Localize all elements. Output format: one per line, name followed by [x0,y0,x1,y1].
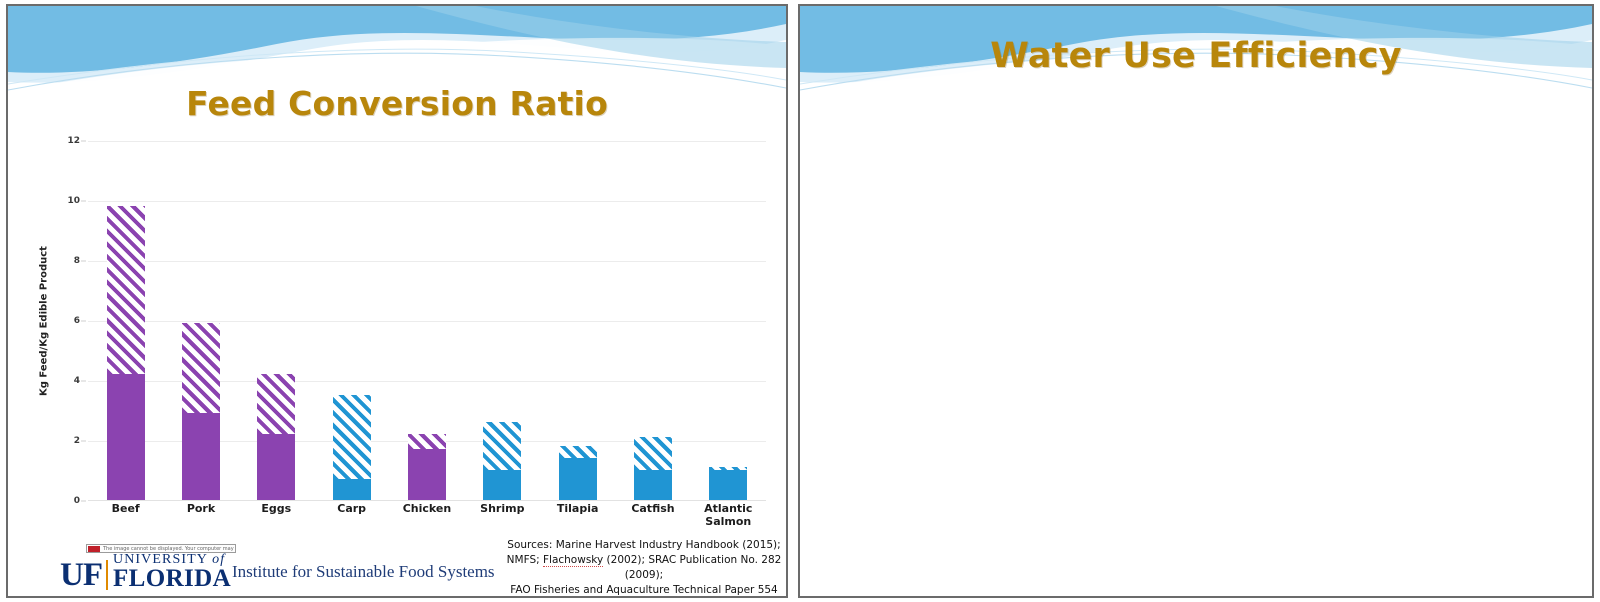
y-tick-mark [81,141,86,142]
x-tick-label: Eggs [239,503,314,528]
bar-eggs[interactable] [257,374,295,500]
uf-divider-left [106,560,108,590]
bar-slot [88,141,163,500]
bar-segment-solid [408,449,446,500]
y-tick-mark [81,501,86,502]
bar-atlantic-salmon[interactable] [709,467,747,500]
broken-image-icon-left: The image cannot be displayed. Your comp… [86,544,236,553]
sources-note-left: Sources: Marine Harvest Industry Handboo… [494,538,788,598]
y-tick-label: 10 [67,196,80,206]
bar-slot [389,141,464,500]
bar-segment-solid [559,458,597,500]
bar-segment-patterned [483,422,521,470]
bar-beef[interactable] [107,206,145,500]
y-tick-label: 4 [74,376,80,386]
x-tick-label: AtlanticSalmon [691,503,766,528]
slide-water-use-efficiency[interactable]: Water Use Efficiency 1000 L/kg edible pr… [798,4,1594,598]
bar-pork[interactable] [182,323,220,500]
bar-segment-patterned [333,395,371,479]
bar-slot [314,141,389,500]
sources-line: NMFS; Flachowsky (2002); SRAC Publicatio… [494,553,788,583]
bar-slot [163,141,238,500]
slide-pair-canvas: Feed Conversion Ratio Kg Feed/Kg Edible … [0,0,1600,602]
bar-shrimp[interactable] [483,422,521,500]
institute-label-left: Institute for Sustainable Food Systems [232,562,495,582]
plot-area-left [88,141,766,501]
y-tick-label: 0 [74,496,80,506]
y-tick-mark [81,381,86,382]
bar-segment-patterned [257,374,295,434]
x-tick-label: Catfish [615,503,690,528]
x-tick-label: Shrimp [465,503,540,528]
y-tick-label: 8 [74,256,80,266]
chart-feed-conversion-ratio: Kg Feed/Kg Edible Product 024681012 Beef… [36,141,766,501]
y-tick-label: 12 [67,136,80,146]
bar-chicken[interactable] [408,434,446,500]
y-axis-ticks-left: 024681012 [52,141,86,501]
y-tick-label: 2 [74,436,80,446]
slide-feed-conversion-ratio[interactable]: Feed Conversion Ratio Kg Feed/Kg Edible … [6,4,788,598]
bar-segment-solid [634,470,672,500]
bar-segment-patterned [559,446,597,458]
bar-segment-solid [333,479,371,500]
uf-monogram-left: UF [60,561,102,591]
sources-line: Sources: Marine Harvest Industry Handboo… [494,538,788,553]
uf-logo-left: The image cannot be displayed. Your comp… [60,544,236,591]
wave-decoration-left [8,6,786,92]
page-title-left: Feed Conversion Ratio [8,84,786,123]
x-tick-label: Beef [88,503,163,528]
y-tick-mark [81,261,86,262]
x-axis-labels-left: BeefPorkEggsCarpChickenShrimpTilapiaCatf… [88,503,766,528]
bar-segment-patterned [408,434,446,449]
x-tick-label: Tilapia [540,503,615,528]
bar-segment-solid [182,413,220,500]
y-tick-mark [81,441,86,442]
bar-slot [465,141,540,500]
bar-segment-solid [257,434,295,500]
y-tick-label: 6 [74,316,80,326]
bar-segment-patterned [182,323,220,413]
bar-segment-patterned [634,437,672,470]
bar-segment-patterned [107,206,145,374]
bar-group-left [88,141,766,500]
bar-slot [239,141,314,500]
y-tick-mark [81,321,86,322]
y-tick-mark [81,201,86,202]
bar-slot [615,141,690,500]
sources-line: FAO Fisheries and Aquaculture Technical … [494,583,788,598]
bar-catfish[interactable] [634,437,672,500]
uf-florida-line-left: FLORIDA [113,567,231,591]
x-tick-label: Carp [314,503,389,528]
bar-segment-solid [709,470,747,500]
bar-tilapia[interactable] [559,446,597,500]
bar-slot [540,141,615,500]
bar-slot [691,141,766,500]
spellcheck-underlined-word: Flachowsky [543,554,603,567]
bar-segment-solid [107,374,145,500]
page-title-right: Water Use Efficiency [800,36,1592,76]
x-tick-label: Pork [163,503,238,528]
y-axis-label-left: Kg Feed/Kg Edible Product [36,141,52,501]
bar-segment-solid [483,470,521,500]
x-tick-label: Chicken [389,503,464,528]
bar-carp[interactable] [333,395,371,500]
